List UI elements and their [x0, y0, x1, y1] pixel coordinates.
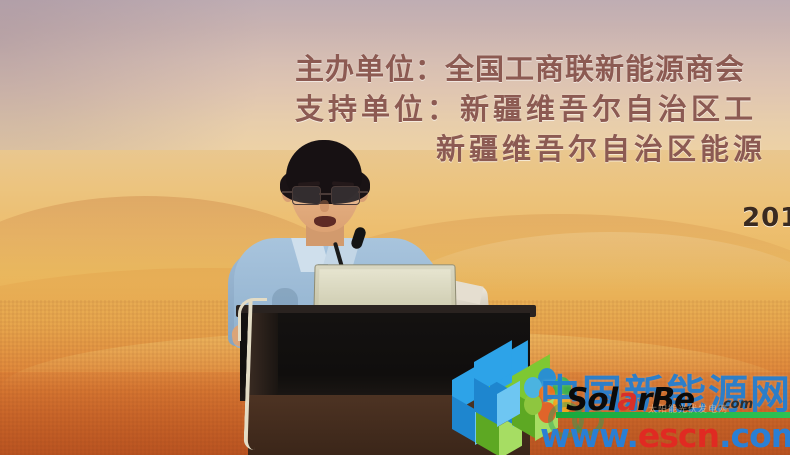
glasses-temple-right [358, 191, 368, 193]
laptop-screen [319, 269, 452, 308]
speaker-nose [320, 200, 329, 212]
url-suffix: .com.cn [719, 416, 790, 455]
podium-cable-loop [238, 298, 267, 341]
speaker-mouth [314, 216, 336, 227]
conference-photo: 主办单位：全国工商联新能源商会 支持单位：新疆维吾尔自治区工 新疆维吾尔自治区能… [0, 0, 790, 455]
url-name: escn [638, 416, 719, 455]
banner-line-supporter-2: 新疆维吾尔自治区能源 [436, 126, 766, 168]
banner-line-organizer: 主办单位：全国工商联新能源商会 [295, 46, 745, 88]
url-prefix: www. [540, 416, 638, 455]
glasses-temple-left [282, 191, 292, 193]
glasses-bridge [319, 193, 331, 195]
glasses-lens-right [331, 186, 360, 205]
banner-line-supporter-1: 支持单位：新疆维吾尔自治区工 [295, 86, 757, 128]
glasses-lens-left [292, 186, 321, 205]
watermark-url: www.escn.com.cn [540, 416, 790, 455]
watermark-tagline: 太阳能光伏发电网 [648, 402, 788, 413]
banner-year-partial: 201 [742, 203, 790, 233]
